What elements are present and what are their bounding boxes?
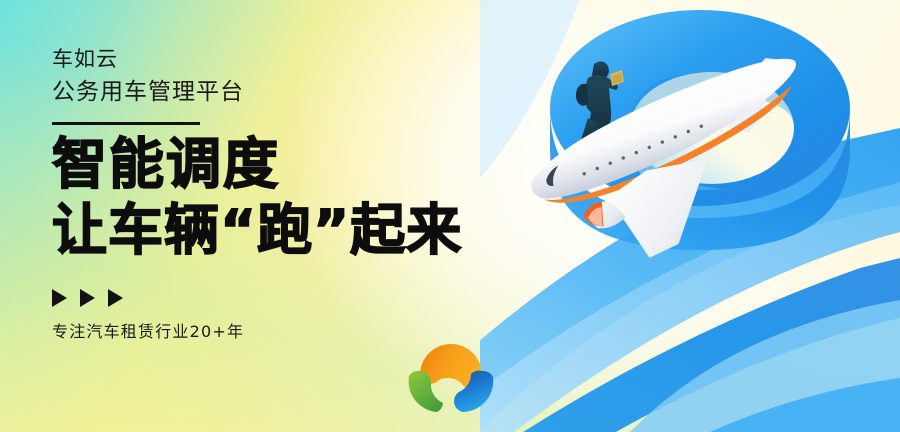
brand-name: 车如云	[52, 44, 592, 74]
headline-line-2: 让车辆“跑”起来	[52, 197, 592, 263]
promo-banner: 车如云 公务用车管理平台 智能调度 让车辆“跑”起来 专注汽车租赁行业20+年	[0, 0, 900, 432]
headline-line-1: 智能调度	[52, 131, 592, 197]
text-content: 车如云 公务用车管理平台 智能调度 让车辆“跑”起来 专注汽车租赁行业20+年	[52, 44, 592, 342]
tagline: 专注汽车租赁行业20+年	[52, 318, 592, 342]
triangle-icon-3	[108, 289, 123, 307]
divider	[52, 122, 200, 125]
cloud-logo	[398, 331, 504, 413]
triangle-icon-1	[52, 289, 67, 307]
triangle-icon-2	[80, 289, 95, 307]
brand-subtitle: 公务用车管理平台	[52, 76, 592, 108]
headline: 智能调度 让车辆“跑”起来	[52, 131, 592, 263]
bullet-arrows	[52, 289, 592, 307]
